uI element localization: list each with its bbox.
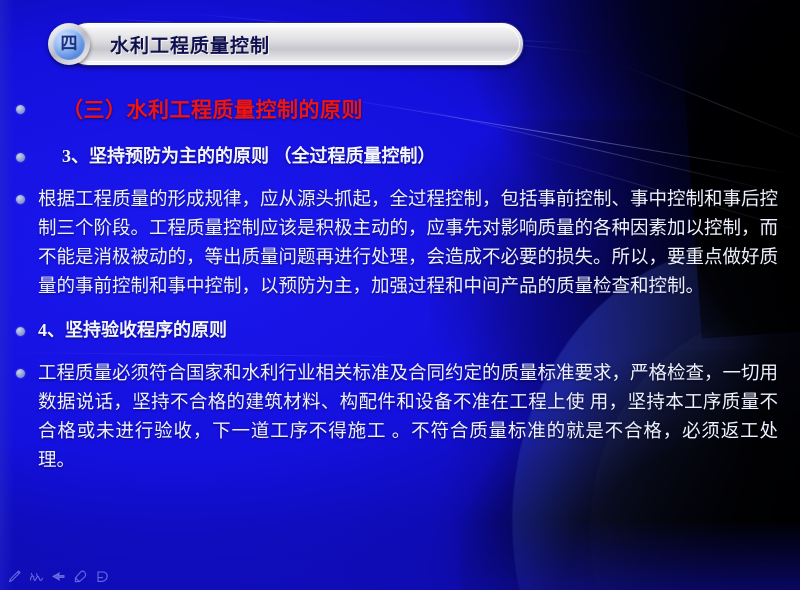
section-number-badge-core: 四: [53, 28, 85, 60]
bullet-dot-icon: [16, 195, 25, 204]
pen-icon[interactable]: [6, 568, 23, 585]
bullet-dot-icon: [16, 369, 25, 378]
bullet-item-point3-paragraph: 根据工程质量的形成规律，应从源头抓起，全过程控制，包括事前控制、事中控制和事后控…: [0, 186, 800, 303]
eraser-icon[interactable]: [94, 568, 111, 585]
bullet-item-point4-title: 4、坚持验收程序的原则: [0, 318, 800, 343]
bullet-item-point4-paragraph: 工程质量必须符合国家和水利行业相关标准及合同约定的质量标准要求，严格检查，一切用…: [0, 360, 800, 477]
bullet-dot-icon: [16, 153, 25, 162]
background-bottom-glow: [0, 520, 800, 590]
spacer: [0, 344, 800, 360]
point3-paragraph: 根据工程质量的形成规律，应从源头抓起，全过程控制，包括事前控制、事中控制和事后控…: [38, 186, 800, 303]
point4-title: 4、坚持验收程序的原则: [38, 318, 800, 343]
spacer: [0, 124, 800, 144]
spacer: [0, 302, 800, 318]
bullet-item-point3-title: 3、坚持预防为主的的原则 （全过程质量控制）: [0, 144, 800, 169]
highlighter-icon[interactable]: [72, 568, 89, 585]
squiggle-ink-icon[interactable]: [28, 568, 45, 585]
section-heading: （三）水利工程质量控制的原则: [38, 96, 800, 124]
bullet-dot-icon: [16, 327, 25, 336]
section-number-label: 四: [61, 36, 78, 53]
point4-paragraph: 工程质量必须符合国家和水利行业相关标准及合同约定的质量标准要求，严格检查，一切用…: [38, 360, 800, 477]
slide-content: （三）水利工程质量控制的原则 3、坚持预防为主的的原则 （全过程质量控制） 根据…: [0, 96, 800, 476]
bullet-item-heading: （三）水利工程质量控制的原则: [0, 96, 800, 124]
presentation-slide: 水利工程质量控制 四 （三）水利工程质量控制的原则 3、坚持预防为主的的原则 （…: [0, 0, 800, 590]
annotation-toolbar[interactable]: [6, 568, 111, 585]
section-number-badge: 四: [48, 23, 90, 65]
arrow-pointer-icon[interactable]: [50, 568, 67, 585]
bullet-dot-icon: [16, 105, 25, 114]
point3-title: 3、坚持预防为主的的原则 （全过程质量控制）: [38, 144, 800, 169]
page-title: 水利工程质量控制: [110, 31, 270, 58]
slide-title-banner: 水利工程质量控制 四: [24, 22, 524, 66]
spacer: [0, 170, 800, 186]
